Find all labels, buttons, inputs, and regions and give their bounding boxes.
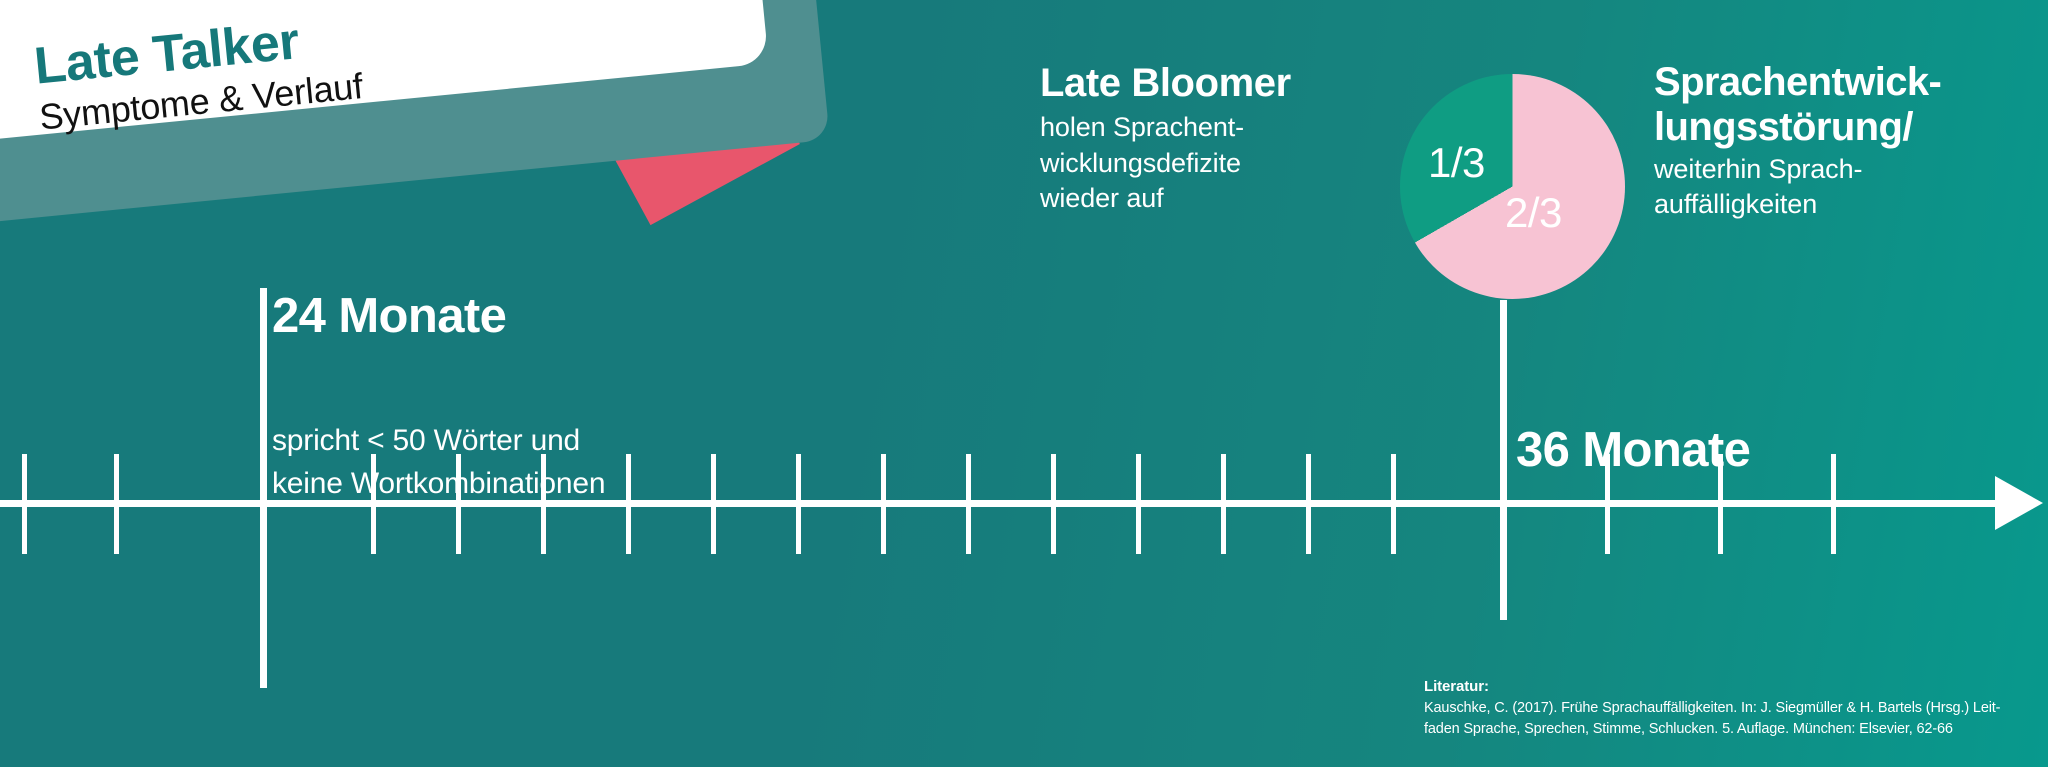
infographic-canvas: Late Talker Symptome & Verlauf Late Bloo… bbox=[0, 0, 2048, 767]
timeline-tick bbox=[1306, 454, 1311, 554]
timeline-tick bbox=[22, 454, 27, 554]
sprachstoerung-heading: Sprachentwick- lungsstörung/ bbox=[1654, 60, 2048, 150]
timeline-label-36-months: 36 Monate bbox=[1516, 422, 1750, 478]
timeline-note-24-line-1: spricht < 50 Wörter und bbox=[272, 424, 580, 457]
literature-body: Kauschke, C. (2017). Frühe Sprachauffäll… bbox=[1424, 698, 2036, 739]
sprachstoerung-heading-line-1: Sprachentwick- bbox=[1654, 60, 1941, 104]
age-timeline: 24 Monate spricht < 50 Wörter und keine … bbox=[0, 300, 2048, 630]
timeline-note-24-months: spricht < 50 Wörter und keine Wortkombin… bbox=[272, 420, 605, 505]
literature-line-2: faden Sprache, Sprechen, Stimme, Schluck… bbox=[1424, 721, 1953, 737]
late-bloomer-text: holen Sprachent- wicklungsdefizite wiede… bbox=[1040, 110, 1370, 217]
literature-citation: Literatur: Kauschke, C. (2017). Frühe Sp… bbox=[1424, 678, 2036, 739]
timeline-major-tick-24 bbox=[260, 288, 267, 688]
outcome-info-row: Late Bloomer holen Sprachent- wicklungsd… bbox=[1040, 62, 2040, 262]
literature-line-1: Kauschke, C. (2017). Frühe Sprachauffäll… bbox=[1424, 700, 2000, 716]
timeline-major-tick-36 bbox=[1500, 300, 1507, 620]
timeline-tick bbox=[1136, 454, 1141, 554]
timeline-tick bbox=[881, 454, 886, 554]
sprachentwicklungsstoerung-block: Sprachentwick- lungsstörung/ weiterhin S… bbox=[1654, 60, 2048, 223]
timeline-tick bbox=[966, 454, 971, 554]
literature-heading: Literatur: bbox=[1424, 678, 2036, 695]
timeline-tick bbox=[114, 454, 119, 554]
late-bloomer-line-2: wicklungsdefizite bbox=[1040, 148, 1241, 178]
late-bloomer-line-1: holen Sprachent- bbox=[1040, 112, 1244, 142]
timeline-tick bbox=[1221, 454, 1226, 554]
sprachstoerung-heading-line-2: lungsstörung/ bbox=[1654, 105, 1913, 149]
outcome-pie-chart: 1/3 2/3 bbox=[1400, 74, 1632, 306]
timeline-note-24-line-2: keine Wortkombinationen bbox=[272, 467, 605, 500]
pie-slice-label-two-thirds: 2/3 bbox=[1505, 192, 1562, 234]
sprachstoerung-line-2: auffälligkeiten bbox=[1654, 189, 1817, 219]
late-bloomer-line-3: wieder auf bbox=[1040, 183, 1164, 213]
timeline-arrow-icon bbox=[1995, 476, 2043, 530]
timeline-label-24-months: 24 Monate bbox=[272, 288, 506, 344]
timeline-tick bbox=[1051, 454, 1056, 554]
timeline-tick bbox=[1391, 454, 1396, 554]
late-bloomer-block: Late Bloomer holen Sprachent- wicklungsd… bbox=[1040, 62, 1370, 217]
late-bloomer-heading: Late Bloomer bbox=[1040, 62, 1370, 104]
timeline-tick bbox=[1831, 454, 1836, 554]
sprachstoerung-line-1: weiterhin Sprach- bbox=[1654, 154, 1862, 184]
pie-shape bbox=[1400, 74, 1625, 299]
sprachstoerung-text: weiterhin Sprach- auffälligkeiten bbox=[1654, 152, 2048, 223]
timeline-tick bbox=[796, 454, 801, 554]
timeline-tick bbox=[626, 454, 631, 554]
timeline-tick bbox=[711, 454, 716, 554]
pie-slice-label-one-third: 1/3 bbox=[1428, 142, 1485, 184]
